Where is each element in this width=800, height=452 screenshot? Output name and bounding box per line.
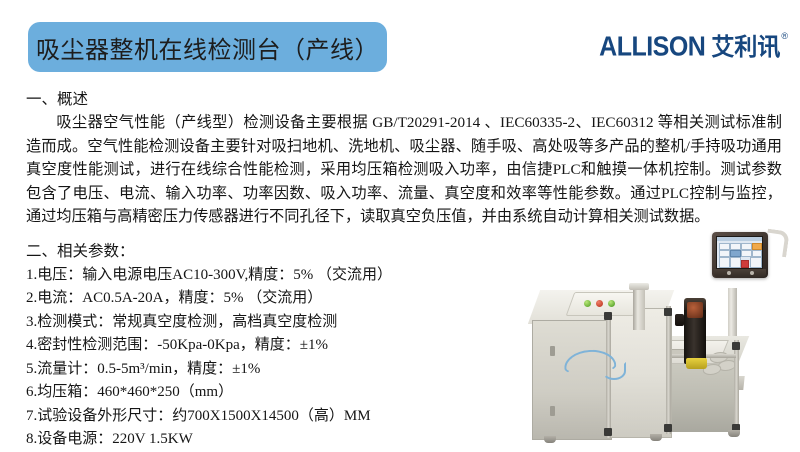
start-button-green[interactable] [608, 300, 615, 307]
overview-paragraph-text: 吸尘器空气性能（产线型）检测设备主要根据 GB/T20291-2014 、IEC… [26, 114, 782, 225]
fixture-adjust-knob[interactable] [675, 314, 684, 326]
parameter-item: 7.试验设备外形尺寸：约700X1500X14500（高）MM [26, 405, 526, 429]
hmi-tile-alert [752, 243, 762, 250]
frame-corner-bracket [732, 342, 740, 350]
parameter-item: 2.电流：AC0.5A-20A，精度：5% （交流用） [26, 287, 526, 311]
hmi-screen [716, 236, 763, 269]
registered-trademark-icon: ® [781, 32, 788, 41]
blue-air-hose-end [602, 362, 626, 380]
overview-heading: 一、概述 [26, 88, 786, 111]
hmi-tile-active [730, 250, 741, 257]
pressure-sensor-module [687, 302, 703, 318]
hmi-tile [741, 243, 752, 250]
hmi-bezel-bottom [714, 269, 766, 277]
brand-name-cn: 艾利讯 [711, 35, 780, 59]
hmi-tile [719, 243, 730, 250]
brand-logo: ALLISON 艾利讯 ® [599, 36, 788, 61]
emergency-stop-button[interactable] [596, 300, 603, 307]
frame-corner-bracket [664, 424, 672, 432]
hmi-screen-header [717, 237, 762, 241]
hmi-power-button [727, 271, 731, 275]
left-cabinet-side [532, 320, 612, 440]
brand-name-en: ALLISON [599, 33, 705, 61]
overview-section: 一、概述 吸尘器空气性能（产线型）检测设备主要根据 GB/T20291-2014… [26, 88, 786, 229]
hmi-tile-fault [741, 260, 749, 268]
cabinet-door-latch[interactable] [550, 406, 555, 416]
parameter-item: 8.设备电源：220V 1.5KW [26, 428, 526, 452]
hmi-tile [730, 257, 741, 268]
hmi-tile [730, 243, 741, 250]
hmi-tile [719, 250, 730, 257]
guide-cylinder-cap [629, 283, 649, 290]
parameters-section: 二、相关参数： 1.电压：输入电源电压AC10-300V,精度：5% （交流用）… [26, 240, 526, 452]
hmi-tile [741, 250, 752, 257]
parameter-item: 3.检测模式：常规真空度检测，高档真空度检测 [26, 311, 526, 335]
hmi-menu-button [750, 271, 754, 275]
overview-paragraph: 吸尘器空气性能（产线型）检测设备主要根据 GB/T20291-2014 、IEC… [26, 111, 782, 229]
frame-corner-bracket [604, 312, 612, 320]
frame-post [666, 306, 671, 434]
parameter-item: 1.电压：输入电源电压AC10-300V,精度：5% （交流用） [26, 264, 526, 288]
page-title-banner: 吸尘器整机在线检测台（产线） [28, 22, 387, 72]
parameter-item: 4.密封性检测范围：-50Kpa-0Kpa，精度：±1% [26, 334, 526, 358]
parameters-heading: 二、相关参数： [26, 240, 526, 264]
hmi-tile [719, 257, 730, 268]
hmi-cable [764, 229, 789, 258]
hmi-tile [750, 257, 762, 268]
hmi-tile [752, 250, 762, 257]
leveling-foot [728, 430, 740, 437]
leveling-foot [650, 434, 662, 441]
page-title: 吸尘器整机在线检测台（产线） [36, 30, 379, 65]
guide-cylinder [633, 286, 645, 330]
sealing-gasket-yellow [686, 358, 707, 369]
leveling-foot [544, 436, 556, 443]
parameter-item: 5.流量计：0.5-5m³/min，精度：±1% [26, 358, 526, 382]
frame-corner-bracket [664, 308, 672, 316]
indicator-lamp-green[interactable] [584, 300, 591, 307]
parameter-item: 6.均压箱：460*460*250（mm） [26, 381, 526, 405]
slide-page: 吸尘器整机在线检测台（产线） ALLISON 艾利讯 ® 一、概述 吸尘器空气性… [0, 0, 800, 450]
frame-corner-bracket [604, 428, 612, 436]
equipment-photo [528, 228, 800, 450]
cabinet-door-handle[interactable] [550, 346, 555, 356]
